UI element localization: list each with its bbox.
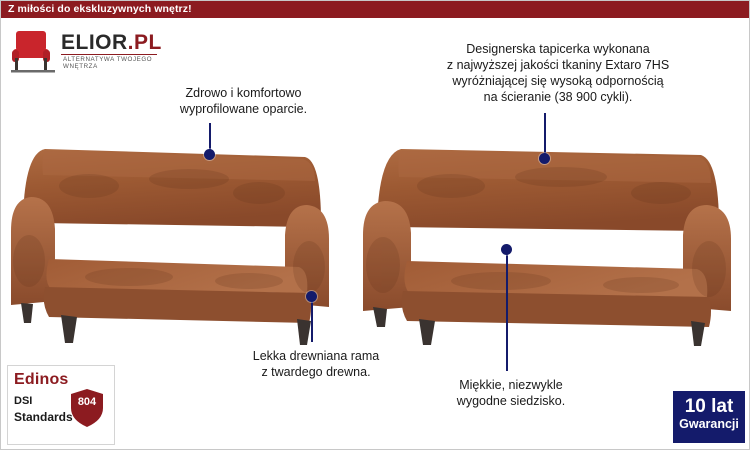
hotspot-frame[interactable] [306,291,317,302]
callout-seat-text: Miękkie, niezwykle wygodne siedzisko. [401,377,621,409]
brand-logo: ELIOR.PL ALTERNATYWA TWOJEGO WNĘTRZA [9,25,159,77]
warranty-years: 10 lat [673,396,745,417]
leader-line-fabric [544,113,546,155]
leader-line-backrest [209,123,211,151]
edinos-badge-line1: DSI [14,395,32,407]
brand-domain: .PL [128,31,162,54]
promo-banner-text: Z miłości do ekskluzywnych wnętrz! [8,3,192,15]
three-seat-sofa [361,131,741,346]
product-infographic: Z miłości do ekskluzywnych wnętrz! ELIOR… [0,0,750,450]
edinos-badge-name: Edinos [14,371,69,389]
logo-divider [61,54,157,55]
brand-name: ELIOR [61,31,128,54]
promo-banner: Z miłości do ekskluzywnych wnętrz! [1,1,750,18]
warranty-badge: 10 lat Gwarancji [673,391,745,443]
callout-backrest-text: Zdrowo i komfortowo wyprofilowane oparci… [141,85,346,117]
edinos-badge-line2: Standards [14,410,73,424]
hotspot-fabric[interactable] [539,153,550,164]
armchair-icon [11,27,57,75]
two-seat-sofa [9,131,339,346]
brand-logo-text: ELIOR.PL [61,31,162,55]
hotspot-seat[interactable] [501,244,512,255]
edinos-badge-number: 804 [70,396,104,408]
callout-fabric-text: Designerska tapicerka wykonana z najwyżs… [399,41,717,105]
warranty-label: Gwarancji [673,417,745,432]
callout-frame-text: Lekka drewniana rama z twardego drewna. [201,348,431,380]
leader-line-frame [311,296,313,342]
leader-line-seat [506,251,508,371]
shield-icon [70,388,104,428]
brand-tagline: ALTERNATYWA TWOJEGO WNĘTRZA [63,56,159,70]
hotspot-backrest[interactable] [204,149,215,160]
edinos-badge: Edinos DSI Standards 804 [7,365,115,445]
